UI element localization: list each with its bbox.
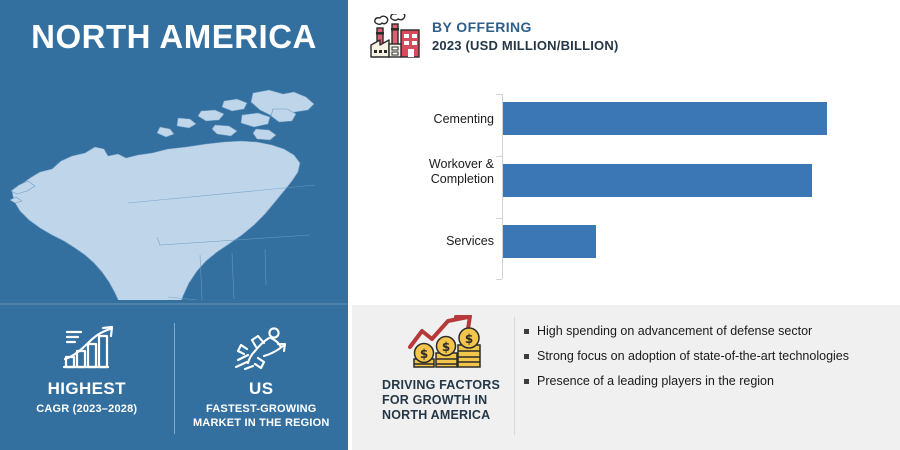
axis-tick [496, 218, 502, 219]
bar-workover-completion [503, 164, 812, 197]
chart-header: BY OFFERING 2023 (USD MILLION/BILLION) [368, 14, 619, 64]
axis-tick [496, 94, 502, 95]
stat-us-value: US [249, 379, 273, 399]
region-panel: NORTH AMERICA [0, 0, 348, 450]
bar-chart-growth-icon [56, 321, 118, 373]
bar-chart: Cementing Workover & Completion Services [352, 88, 900, 288]
rocket-person-icon [228, 321, 294, 373]
driving-heading-line-1: DRIVING FACTORS [382, 378, 512, 393]
svg-text:$: $ [442, 340, 450, 354]
chart-panel: BY OFFERING 2023 (USD MILLION/BILLION) C… [352, 0, 900, 303]
page-title: NORTH AMERICA [0, 17, 348, 57]
bar-label-workover: Workover & Completion [364, 157, 494, 187]
svg-text:$: $ [465, 332, 473, 346]
bar-services [503, 225, 596, 258]
bullet-text: Strong focus on adoption of state-of-the… [537, 348, 849, 364]
driving-factors-heading-block: $ $ $ [382, 315, 512, 423]
driving-factors-panel: $ $ $ [352, 305, 900, 450]
list-item: High spending on advancement of defense … [524, 323, 884, 339]
bullet-text: Presence of a leading players in the reg… [537, 373, 774, 389]
axis-tick [496, 279, 502, 280]
driving-factors-heading: DRIVING FACTORS FOR GROWTH IN NORTH AMER… [382, 378, 512, 423]
list-item: Strong focus on adoption of state-of-the… [524, 348, 884, 364]
axis-tick [496, 156, 502, 157]
bar-cementing [503, 102, 827, 135]
bullet-square-icon [524, 329, 529, 334]
bar-label-cementing: Cementing [364, 112, 494, 127]
chart-title: BY OFFERING [432, 19, 619, 36]
stat-highest-value: HIGHEST [48, 379, 126, 399]
panel-vertical-divider [514, 317, 515, 435]
driving-heading-line-2: FOR GROWTH IN [382, 393, 512, 408]
coins-growth-icon: $ $ $ [406, 315, 488, 373]
factory-icon [368, 14, 422, 64]
svg-text:$: $ [420, 347, 428, 361]
stat-highest-cagr: HIGHEST CAGR (2023–2028) [0, 305, 174, 450]
bullet-square-icon [524, 379, 529, 384]
stat-highest-label: CAGR (2023–2028) [36, 402, 137, 416]
driving-factors-list: High spending on advancement of defense … [524, 323, 884, 398]
bar-label-services: Services [364, 234, 494, 249]
stats-row: HIGHEST CAGR (2023–2028) [0, 305, 348, 450]
chart-subtitle: 2023 (USD MILLION/BILLION) [432, 37, 619, 54]
north-america-map-icon [10, 85, 340, 300]
stat-us-label: FASTEST-GROWING MARKET IN THE REGION [186, 402, 336, 430]
driving-heading-line-3: NORTH AMERICA [382, 408, 512, 423]
stat-us-fastest: US FASTEST-GROWING MARKET IN THE REGION [175, 305, 349, 450]
infographic-root: NORTH AMERICA [0, 0, 900, 450]
bullet-square-icon [524, 354, 529, 359]
list-item: Presence of a leading players in the reg… [524, 373, 884, 389]
bullet-text: High spending on advancement of defense … [537, 323, 812, 339]
